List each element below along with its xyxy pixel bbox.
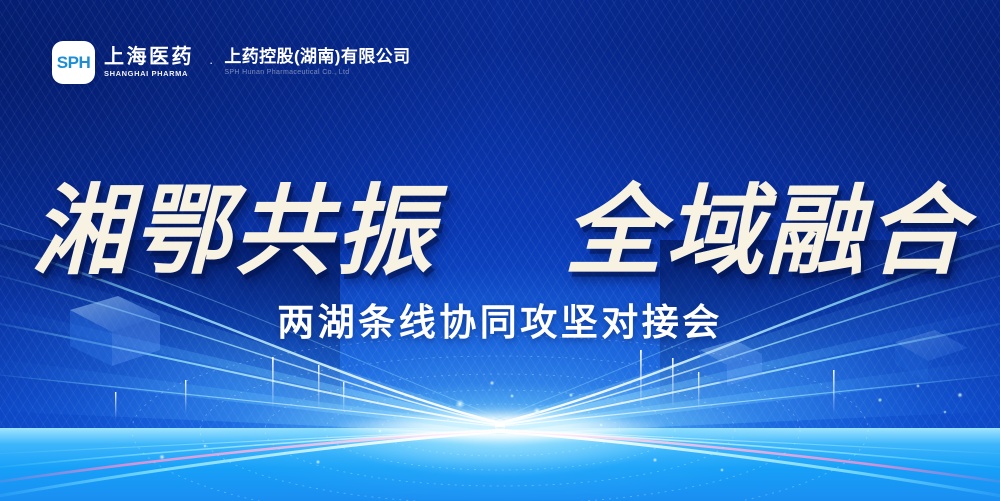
sph-logo-text: SPH	[57, 53, 90, 73]
company-name-group: 上药控股(湖南)有限公司 SPH Hunan Pharmaceutical Co…	[224, 48, 410, 77]
brand-name-en: SHANGHAI PHARMA	[104, 69, 194, 78]
headline: 湘鄂共振 全域融合	[0, 152, 1000, 294]
company-name-cn: 上药控股(湖南)有限公司	[224, 48, 410, 67]
logo-separator-dot: ·	[209, 55, 213, 70]
event-banner: SPH 上海医药 SHANGHAI PHARMA · 上药控股(湖南)有限公司 …	[0, 0, 1000, 501]
subtitle: 两湖条线协同攻坚对接会	[0, 292, 1000, 346]
decor-cube-right	[700, 340, 762, 386]
brand-name-cn: 上海医药	[104, 47, 194, 68]
perspective-floor	[0, 428, 1000, 501]
brand-logo: SPH 上海医药 SHANGHAI PHARMA · 上药控股(湖南)有限公司 …	[52, 41, 410, 84]
headline-part-2: 全域融合	[564, 174, 968, 289]
company-name-en: SPH Hunan Pharmaceutical Co., Ltd	[224, 69, 410, 77]
sph-logo-icon: SPH	[52, 41, 95, 84]
brand-name-group: 上海医药 SHANGHAI PHARMA	[104, 47, 194, 78]
headline-part-1: 湘鄂共振	[32, 174, 436, 289]
